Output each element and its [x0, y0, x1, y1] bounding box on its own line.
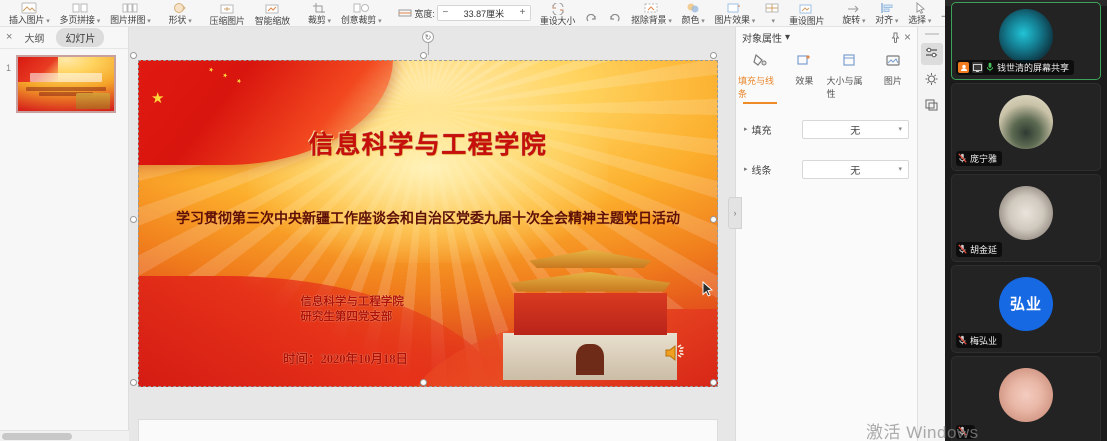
mouse-cursor-icon [702, 281, 714, 301]
rotate-icon [846, 2, 861, 15]
participant-tile[interactable]: 庞宁雅 [951, 83, 1101, 171]
close-icon[interactable]: × [6, 32, 12, 43]
chevron-down-icon: ▾ [378, 18, 381, 25]
thumbnail-text-bar [26, 87, 107, 91]
effects-icon [796, 53, 812, 71]
mic-icon [986, 62, 994, 74]
select-button[interactable]: 选择▾ [903, 0, 936, 27]
speaker-icon[interactable] [663, 342, 689, 367]
reset-picture-label: 重设图片 [789, 16, 824, 26]
slide-navigator-panel: × 大纲 幻灯片 1 [0, 27, 129, 441]
org-line-2: 研究生第四党支部 [300, 310, 404, 325]
remove-background-label: 抠除背景 [631, 15, 666, 25]
creative-crop-button[interactable]: 创意裁剪▾ [336, 0, 387, 27]
avatar [999, 95, 1053, 149]
rotate-left-icon [585, 14, 598, 27]
remove-background-icon [643, 2, 659, 15]
width-decrease-button[interactable]: − [438, 6, 453, 20]
participant-name: 钱世清的屏幕共享 [997, 61, 1069, 74]
reset-size-button[interactable]: 重设大小 [535, 0, 580, 27]
line-label: 线条 [752, 162, 802, 177]
picture-layout-button[interactable]: ▾ [760, 0, 784, 27]
slide-thumbnail-1[interactable] [16, 55, 116, 113]
picture-effect-label: 图片效果 [715, 15, 750, 25]
chevron-down-icon: ▾ [771, 18, 774, 25]
reset-picture-icon [799, 3, 814, 16]
tab-picture-label: 图片 [884, 74, 902, 87]
building-decoration [76, 93, 111, 109]
resize-handle-w[interactable] [130, 216, 137, 223]
navigator-tabs: × 大纲 幻灯片 [0, 27, 128, 49]
chevron-down-icon: ▾ [898, 125, 902, 133]
tab-fill-and-line-label: 填充与线条 [738, 74, 782, 100]
picture-collage-label: 图片拼图 [110, 15, 145, 25]
shape-button[interactable]: 形状▾ [164, 0, 197, 27]
multi-page-splice-icon [72, 2, 88, 15]
participant-tile[interactable]: 钱世清的屏幕共享 [951, 2, 1101, 80]
chevron-down-icon: ▾ [147, 18, 150, 25]
tab-size-and-properties-label: 大小与属性 [827, 74, 871, 100]
close-icon[interactable]: × [904, 30, 911, 44]
slide-date: 时间：2020年10月18日 [283, 348, 408, 367]
reset-size-label: 重设大小 [540, 16, 575, 26]
fill-label: 填充 [752, 122, 802, 137]
slide-edit-area: 信息科学与工程学院 学习贯彻第三次中央新疆工作座谈会和自治区党委九届十次全会精神… [129, 27, 735, 441]
scrollbar-thumb[interactable] [2, 433, 72, 440]
avatar [999, 9, 1053, 63]
insert-picture-button[interactable]: 插入图片▾ [4, 0, 55, 27]
participant-tile[interactable]: 胡金延 [951, 174, 1101, 262]
resize-handle-ne[interactable] [710, 52, 717, 59]
participant-label: 庞宁雅 [956, 151, 1002, 166]
slide-subtitle: 学习贯彻第三次中央新疆工作座谈会和自治区党委九届十次全会精神主题党日活动 [173, 210, 683, 229]
properties-panel-header: 对象属性 ▾ × [736, 27, 917, 47]
chevron-down-icon: ▾ [898, 165, 902, 173]
chevron-down-icon: ▾ [328, 18, 331, 25]
participant-tile[interactable]: 弘业 梅弘业 [951, 265, 1101, 353]
resize-handle-n[interactable] [420, 52, 427, 59]
size-properties-icon [841, 53, 857, 71]
mic-muted-icon [958, 335, 967, 347]
sliders-icon [924, 46, 939, 63]
slide-selection-wrapper: 信息科学与工程学院 学习贯彻第三次中央新疆工作座谈会和自治区党委九届十次全会精神… [138, 60, 718, 387]
resize-handle-sw[interactable] [130, 379, 137, 386]
navigator-horizontal-scrollbar[interactable] [0, 430, 129, 441]
width-increase-button[interactable]: + [515, 6, 530, 20]
rotate-right-button[interactable] [603, 0, 626, 27]
align-label: 对齐 [875, 15, 893, 25]
slide-number: 1 [6, 63, 11, 73]
participant-name: 梅弘业 [970, 334, 997, 347]
line-value: 无 [850, 162, 860, 177]
notes-pane[interactable] [138, 419, 718, 441]
shape-label: 形状 [169, 15, 187, 25]
color-label: 颜色 [682, 15, 700, 25]
expand-chevron-icon[interactable]: ▸ [744, 125, 748, 133]
effects-star-icon [924, 72, 939, 89]
host-icon [958, 62, 969, 73]
meeting-participants-panel: 钱世清的屏幕共享 庞宁雅 胡金延 弘业 [945, 0, 1107, 441]
avatar-initials: 弘业 [999, 277, 1053, 331]
chevron-down-icon: ▾ [895, 18, 898, 25]
chevron-right-icon: › [734, 208, 737, 218]
participant-name: 庞宁雅 [970, 152, 997, 165]
fill-line-icon [752, 53, 768, 71]
org-line-1: 信息科学与工程学院 [300, 295, 404, 310]
multi-page-splice-button[interactable]: 多页拼接▾ [55, 0, 106, 27]
right-tool-rail [917, 27, 945, 441]
rotate-label: 旋转 [842, 15, 860, 25]
creative-crop-icon [353, 2, 369, 15]
thumbnail-canvas [18, 57, 114, 111]
color-icon [686, 2, 700, 15]
rotate-stem [428, 42, 429, 55]
slide-thumbnail-list: 1 [0, 49, 128, 113]
align-button[interactable]: 对齐▾ [870, 0, 903, 27]
crop-icon [312, 2, 326, 15]
crop-button[interactable]: 裁剪▾ [303, 0, 336, 27]
fill-value: 无 [850, 122, 860, 137]
smart-scale-button[interactable]: 智能缩放 [250, 0, 295, 27]
width-control-group: 宽度: − + [394, 0, 535, 27]
properties-tabs: 填充与线条 效果 大小与属性 图片 [736, 47, 917, 104]
chevron-down-icon: ▾ [668, 18, 671, 25]
avatar [999, 368, 1053, 422]
fill-select[interactable]: 无 ▾ [802, 120, 909, 139]
thumbnail-title-bar [30, 73, 103, 82]
object-properties-panel: 对象属性 ▾ × 填充与线条 效果 [735, 27, 917, 441]
tab-effects[interactable]: 效果 [782, 51, 826, 104]
select-label: 选择 [908, 15, 926, 25]
rail-grip [925, 33, 939, 35]
select-icon [913, 2, 927, 15]
chevron-down-icon: ▾ [862, 18, 865, 25]
chevron-down-icon: ▾ [928, 18, 931, 25]
remove-background-button[interactable]: 抠除背景▾ [626, 0, 677, 27]
tab-fill-and-line[interactable]: 填充与线条 [738, 51, 782, 104]
tab-slides[interactable]: 幻灯片 [56, 28, 104, 47]
compress-picture-label: 压缩图片 [210, 16, 245, 26]
rail-button-layers[interactable] [921, 95, 943, 117]
pin-icon[interactable] [890, 32, 901, 43]
picture-effect-button[interactable]: 图片效果▾ [710, 0, 761, 27]
tab-outline[interactable]: 大纲 [20, 29, 48, 46]
width-stepper[interactable]: − + [437, 5, 531, 21]
width-input[interactable] [453, 6, 515, 20]
picture-collage-icon [122, 2, 138, 15]
shape-icon [173, 2, 187, 15]
chevron-down-icon: ▾ [188, 18, 191, 25]
participant-label: 梅弘业 [956, 333, 1002, 348]
resize-handle-nw[interactable] [130, 52, 137, 59]
participant-label: 钱世清的屏幕共享 [956, 60, 1074, 75]
line-select[interactable]: 无 ▾ [802, 160, 909, 179]
fill-row: ▸ 填充 无 ▾ [736, 114, 917, 144]
width-label: 宽度: [414, 7, 435, 20]
tab-size-and-properties[interactable]: 大小与属性 [827, 51, 871, 104]
smart-scale-icon [264, 3, 280, 16]
tab-picture[interactable]: 图片 [871, 51, 915, 104]
rail-button-effects[interactable] [921, 69, 943, 91]
layers-icon [924, 98, 939, 115]
chevron-down-icon: ▾ [752, 18, 755, 25]
picture-layout-icon [765, 2, 779, 15]
chevron-down-icon: ▾ [46, 18, 49, 25]
send-backward-button[interactable]: 下移一层▾ [936, 0, 945, 27]
slide-canvas[interactable]: 信息科学与工程学院 学习贯彻第三次中央新疆工作座谈会和自治区党委九届十次全会精神… [138, 60, 718, 387]
picture-effect-icon [727, 2, 742, 15]
picture-collage-button[interactable]: 图片拼图▾ [105, 0, 156, 27]
line-row: ▸ 线条 无 ▾ [736, 154, 917, 184]
creative-crop-label: 创意裁剪 [341, 15, 376, 25]
crop-label: 裁剪 [308, 15, 326, 25]
compress-picture-button[interactable]: 压缩图片 [205, 0, 250, 27]
color-button[interactable]: 颜色▾ [677, 0, 710, 27]
picture-tools-ribbon: 插入图片▾ 多页拼接▾ 图片拼图▾ 形状▾ 压缩图片 [0, 0, 945, 27]
tab-effects-label: 效果 [795, 74, 813, 87]
width-icon [398, 7, 412, 20]
mic-muted-icon [958, 153, 967, 165]
insert-picture-icon [21, 2, 37, 15]
chevron-down-icon[interactable]: ▾ [785, 32, 790, 43]
picture-icon [885, 53, 901, 71]
avatar: 弘业 [999, 277, 1053, 331]
reset-picture-button[interactable]: 重设图片 [784, 0, 829, 27]
rotate-button[interactable]: 旋转▾ [837, 0, 870, 27]
align-icon [880, 2, 894, 15]
rotate-handle-icon[interactable]: ↻ [422, 31, 434, 43]
rotate-right-icon [608, 14, 621, 27]
chevron-down-icon: ▾ [97, 18, 100, 25]
panel-collapse-toggle[interactable]: › [728, 197, 742, 229]
participant-label: 胡金延 [956, 242, 1002, 257]
avatar [999, 186, 1053, 240]
rotate-left-button[interactable] [580, 0, 603, 27]
reset-size-icon [551, 3, 565, 16]
multi-page-splice-label: 多页拼接 [60, 15, 95, 25]
properties-panel-title: 对象属性 [742, 30, 782, 45]
insert-picture-label: 插入图片 [9, 15, 44, 25]
application-window: 插入图片▾ 多页拼接▾ 图片拼图▾ 形状▾ 压缩图片 [0, 0, 1107, 441]
windows-activation-watermark: 激活 Windows [866, 418, 979, 441]
chevron-down-icon: ▾ [701, 18, 704, 25]
expand-chevron-icon[interactable]: ▸ [744, 165, 748, 173]
slide-organization: 信息科学与工程学院 研究生第四党支部 [300, 295, 404, 325]
screen-share-icon [972, 62, 983, 73]
slide-title: 信息科学与工程学院 [138, 125, 718, 161]
mic-muted-icon [958, 244, 967, 256]
participant-name: 胡金延 [970, 243, 997, 256]
smart-scale-label: 智能缩放 [255, 16, 290, 26]
compress-picture-icon [219, 3, 235, 16]
rail-button-sliders[interactable] [921, 43, 943, 65]
tiananmen-tower-decoration [503, 250, 677, 381]
